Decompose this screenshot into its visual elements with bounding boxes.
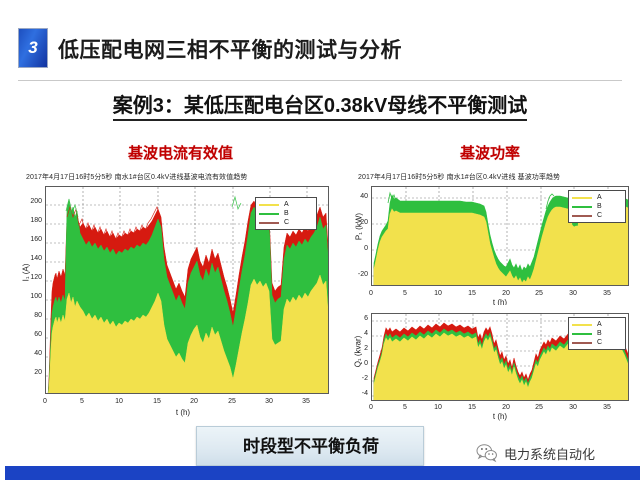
- xtick-q-30: 30: [566, 404, 580, 411]
- xtick-current-10: 10: [112, 398, 126, 405]
- legend-item-b: B: [259, 209, 313, 218]
- ytick-q-neg4: -4: [350, 390, 368, 397]
- left-margin-bar: [0, 0, 5, 480]
- xtick-p-20: 20: [499, 290, 513, 297]
- case-subtitle-text: 案例3：某低压配电台区0.38kV母线不平衡测试: [113, 95, 528, 121]
- legend-reactive-power[interactable]: A B C: [568, 317, 626, 350]
- chart-panel-current: 2017年4月17日16时5分5秒 南水1#台区0.4kV进线基波电流有效值趋势…: [18, 172, 338, 420]
- ytick-q-6: 6: [350, 315, 368, 322]
- legend-label-a: A: [597, 320, 602, 329]
- legend-item-a: A: [259, 200, 313, 209]
- legend-label-a: A: [284, 200, 289, 209]
- legend-label-c: C: [284, 218, 289, 227]
- xtick-q-0: 0: [364, 404, 378, 411]
- page-title: 低压配电网三相不平衡的测试与分析: [58, 34, 402, 64]
- legend-label-c: C: [597, 338, 602, 347]
- chart-panel-reactive-power: Q₁ (kvar) -4 -2 0 2 4 6: [346, 305, 638, 425]
- ytick-p-20: 20: [350, 219, 368, 226]
- legend-swatch-c-icon: [572, 215, 592, 217]
- heading-fundamental-power: 基波功率: [460, 142, 520, 163]
- xtick-p-35: 35: [600, 290, 614, 297]
- section-number-badge: 3: [18, 28, 48, 68]
- legend-item-b: B: [572, 329, 622, 338]
- ytick-q-0: 0: [350, 360, 368, 367]
- legend-item-c: C: [572, 211, 622, 220]
- xtick-p-30: 30: [566, 290, 580, 297]
- ytick-q-2: 2: [350, 345, 368, 352]
- xtick-q-35: 35: [600, 404, 614, 411]
- xtick-q-5: 5: [398, 404, 412, 411]
- header-divider: [18, 80, 622, 81]
- xtick-p-10: 10: [431, 290, 445, 297]
- ytick-p-0: 0: [350, 245, 368, 252]
- legend-swatch-b-icon: [259, 213, 279, 215]
- xtick-q-25: 25: [532, 404, 546, 411]
- legend-label-c: C: [597, 211, 602, 220]
- xtick-current-30: 30: [262, 398, 276, 405]
- legend-swatch-a-icon: [259, 204, 279, 206]
- x-axis-label-current: t (h): [163, 408, 203, 417]
- xtick-q-10: 10: [431, 404, 445, 411]
- xtick-p-0: 0: [364, 290, 378, 297]
- xtick-p-25: 25: [532, 290, 546, 297]
- ytick-current-140: 140: [18, 255, 42, 262]
- ytick-p-40: 40: [350, 193, 368, 200]
- ytick-q-4: 4: [350, 330, 368, 337]
- ytick-current-80: 80: [18, 312, 42, 319]
- ytick-current-60: 60: [18, 331, 42, 338]
- legend-item-b: B: [572, 202, 622, 211]
- ytick-current-180: 180: [18, 217, 42, 224]
- case-subtitle: 案例3：某低压配电台区0.38kV母线不平衡测试: [0, 89, 640, 118]
- xtick-current-35: 35: [299, 398, 313, 405]
- xtick-current-15: 15: [150, 398, 164, 405]
- legend-swatch-c-icon: [572, 342, 592, 344]
- chart-panel-active-power: 2017年4月17日16时5分5秒 南水1#台区0.4kV进线 基波功率趋势 P…: [346, 172, 638, 302]
- bottom-accent-bar: [0, 466, 640, 480]
- xtick-q-20: 20: [499, 404, 513, 411]
- legend-swatch-c-icon: [259, 222, 279, 224]
- legend-item-c: C: [259, 218, 313, 227]
- ytick-current-160: 160: [18, 236, 42, 243]
- legend-item-a: A: [572, 320, 622, 329]
- chart-title-active-power: 2017年4月17日16时5分5秒 南水1#台区0.4kV进线 基波功率趋势: [358, 172, 560, 182]
- ytick-current-120: 120: [18, 274, 42, 281]
- xtick-p-5: 5: [398, 290, 412, 297]
- legend-swatch-b-icon: [572, 333, 592, 335]
- legend-swatch-a-icon: [572, 324, 592, 326]
- conclusion-callout: 时段型不平衡负荷: [196, 426, 424, 466]
- chart-title-current: 2017年4月17日16时5分5秒 南水1#台区0.4kV进线基波电流有效值趋势: [26, 172, 247, 182]
- ytick-current-40: 40: [18, 350, 42, 357]
- conclusion-text: 时段型不平衡负荷: [197, 427, 425, 467]
- slide-root: 3 低压配电网三相不平衡的测试与分析 案例3：某低压配电台区0.38kV母线不平…: [0, 0, 640, 480]
- xtick-p-15: 15: [465, 290, 479, 297]
- legend-swatch-b-icon: [572, 206, 592, 208]
- xtick-current-0: 0: [38, 398, 52, 405]
- legend-label-b: B: [284, 209, 289, 218]
- legend-active-power[interactable]: A B C: [568, 190, 626, 223]
- legend-current[interactable]: A B C: [255, 197, 317, 230]
- heading-fundamental-current: 基波电流有效值: [128, 142, 233, 163]
- ytick-current-100: 100: [18, 293, 42, 300]
- xtick-current-25: 25: [225, 398, 239, 405]
- xtick-current-20: 20: [187, 398, 201, 405]
- xtick-current-5: 5: [75, 398, 89, 405]
- ytick-current-20: 20: [18, 369, 42, 376]
- xtick-q-15: 15: [465, 404, 479, 411]
- legend-label-a: A: [597, 193, 602, 202]
- ytick-q-neg2: -2: [350, 375, 368, 382]
- legend-label-b: B: [597, 329, 602, 338]
- wechat-icon: [476, 443, 498, 463]
- watermark-label: 电力系统自动化: [504, 444, 595, 463]
- legend-item-a: A: [572, 193, 622, 202]
- legend-item-c: C: [572, 338, 622, 347]
- ytick-current-200: 200: [18, 198, 42, 205]
- legend-label-b: B: [597, 202, 602, 211]
- ytick-p-neg20: -20: [350, 271, 368, 278]
- watermark: 电力系统自动化: [470, 440, 640, 466]
- legend-swatch-a-icon: [572, 197, 592, 199]
- x-axis-label-reactive-power: t (h): [480, 412, 520, 421]
